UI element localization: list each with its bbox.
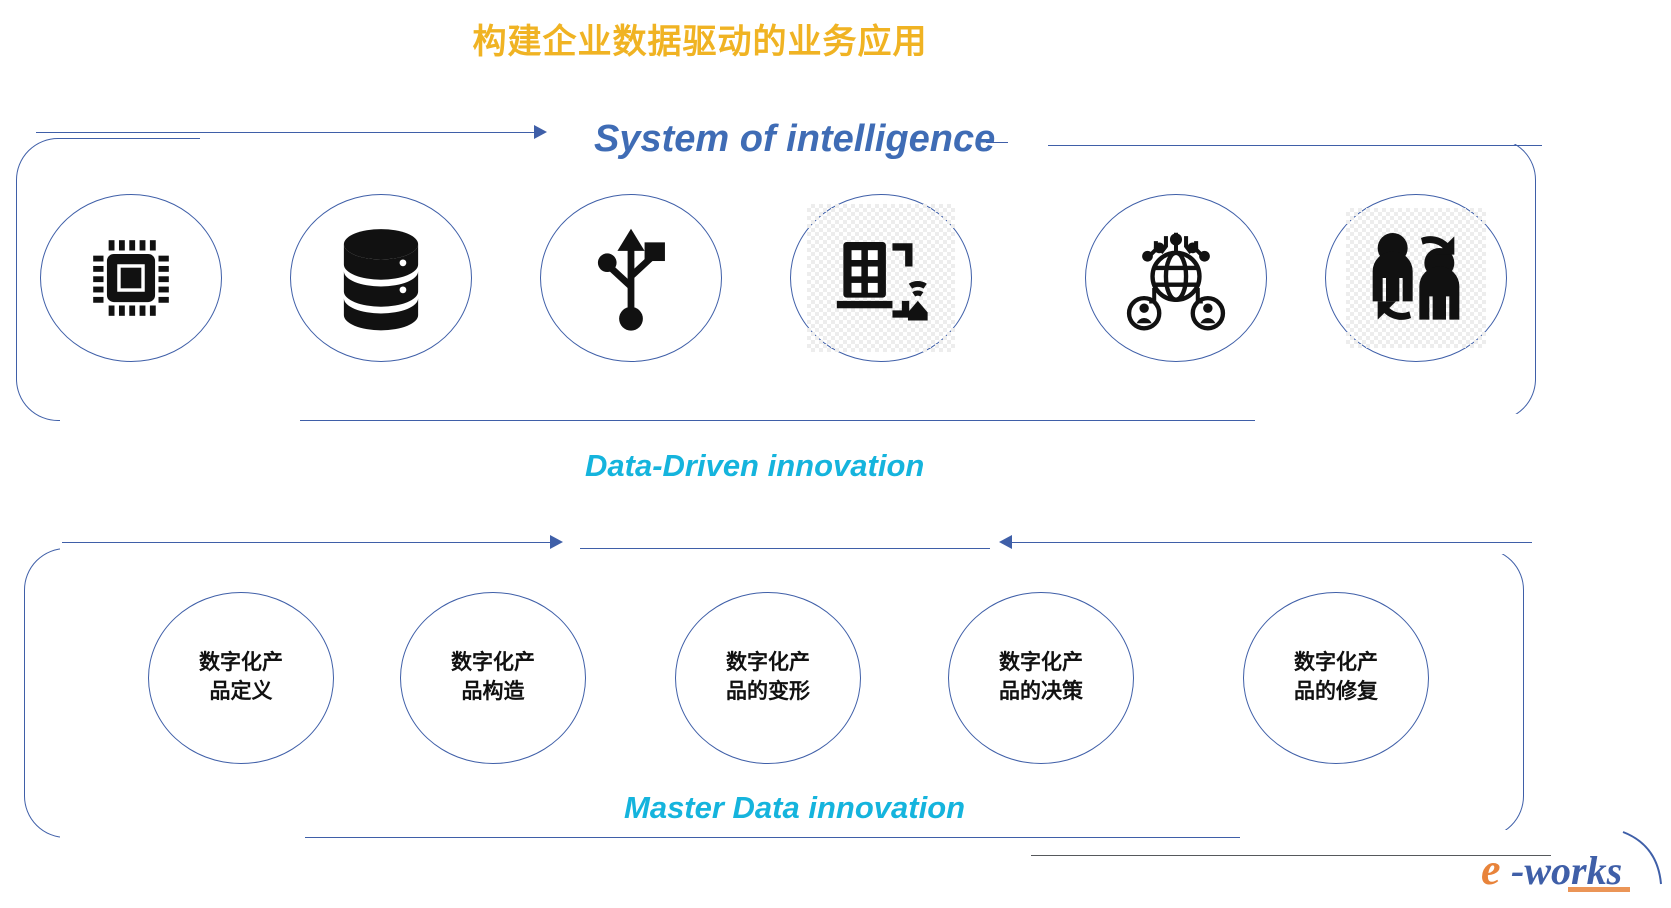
icon-circle-global-network[interactable] bbox=[1085, 194, 1267, 362]
icon-circle-people-exchange[interactable] bbox=[1325, 194, 1507, 362]
smart-building-icon bbox=[807, 204, 955, 352]
node-circle-2[interactable]: 数字化产 品构造 bbox=[400, 592, 586, 764]
icon-circle-database[interactable] bbox=[290, 194, 472, 362]
bottom-left-arrow-head bbox=[550, 535, 563, 549]
node-label-3: 数字化产 品的变形 bbox=[726, 649, 810, 707]
panel-bottom-right-gap bbox=[1255, 414, 1545, 428]
icon-circle-cpu-chip[interactable] bbox=[40, 194, 222, 362]
bottom-panel-top-left-gap bbox=[60, 542, 580, 554]
data-driven-innovation-caption: Data-Driven innovation bbox=[585, 448, 924, 484]
people-exchange-icon bbox=[1346, 208, 1486, 348]
heading-trailing-rule bbox=[1048, 145, 1542, 146]
node-circle-1[interactable]: 数字化产 品定义 bbox=[148, 592, 334, 764]
system-of-intelligence-panel bbox=[16, 138, 1536, 421]
node-label-4: 数字化产 品的决策 bbox=[999, 649, 1083, 707]
page-title: 构建企业数据驱动的业务应用 bbox=[0, 14, 1400, 63]
icon-circle-usb-connector[interactable] bbox=[540, 194, 722, 362]
slide-canvas: 构建企业数据驱动的业务应用 System of intelligence bbox=[0, 0, 1671, 908]
node-label-2: 数字化产 品构造 bbox=[451, 649, 535, 707]
cpu-chip-icon bbox=[76, 223, 186, 333]
top-arrow-line bbox=[36, 132, 536, 133]
svg-text:e: e bbox=[1481, 845, 1501, 894]
bottom-panel-bottom-left-gap bbox=[60, 830, 305, 844]
bottom-left-arrow-line bbox=[62, 542, 552, 543]
database-icon bbox=[327, 222, 435, 334]
bottom-right-arrow-line bbox=[1012, 542, 1532, 543]
svg-text:-works: -works bbox=[1511, 848, 1622, 893]
usb-connector-icon bbox=[582, 222, 680, 334]
icon-circle-smart-building[interactable] bbox=[790, 194, 972, 362]
system-of-intelligence-heading: System of intelligence bbox=[594, 118, 995, 161]
node-circle-3[interactable]: 数字化产 品的变形 bbox=[675, 592, 861, 764]
top-arrow-head bbox=[534, 125, 547, 139]
node-circle-5[interactable]: 数字化产 品的修复 bbox=[1243, 592, 1429, 764]
bottom-panel-top-right-gap bbox=[990, 542, 1530, 554]
bottom-right-arrow-head bbox=[999, 535, 1012, 549]
eworks-logo: e -works bbox=[1473, 828, 1663, 898]
master-data-innovation-caption: Master Data innovation bbox=[624, 790, 965, 826]
heading-tick bbox=[986, 142, 1008, 143]
node-circle-4[interactable]: 数字化产 品的决策 bbox=[948, 592, 1134, 764]
node-label-1: 数字化产 品定义 bbox=[199, 649, 283, 707]
panel-bottom-left-gap bbox=[60, 414, 300, 428]
node-label-5: 数字化产 品的修复 bbox=[1294, 649, 1378, 707]
global-network-icon bbox=[1117, 221, 1235, 335]
